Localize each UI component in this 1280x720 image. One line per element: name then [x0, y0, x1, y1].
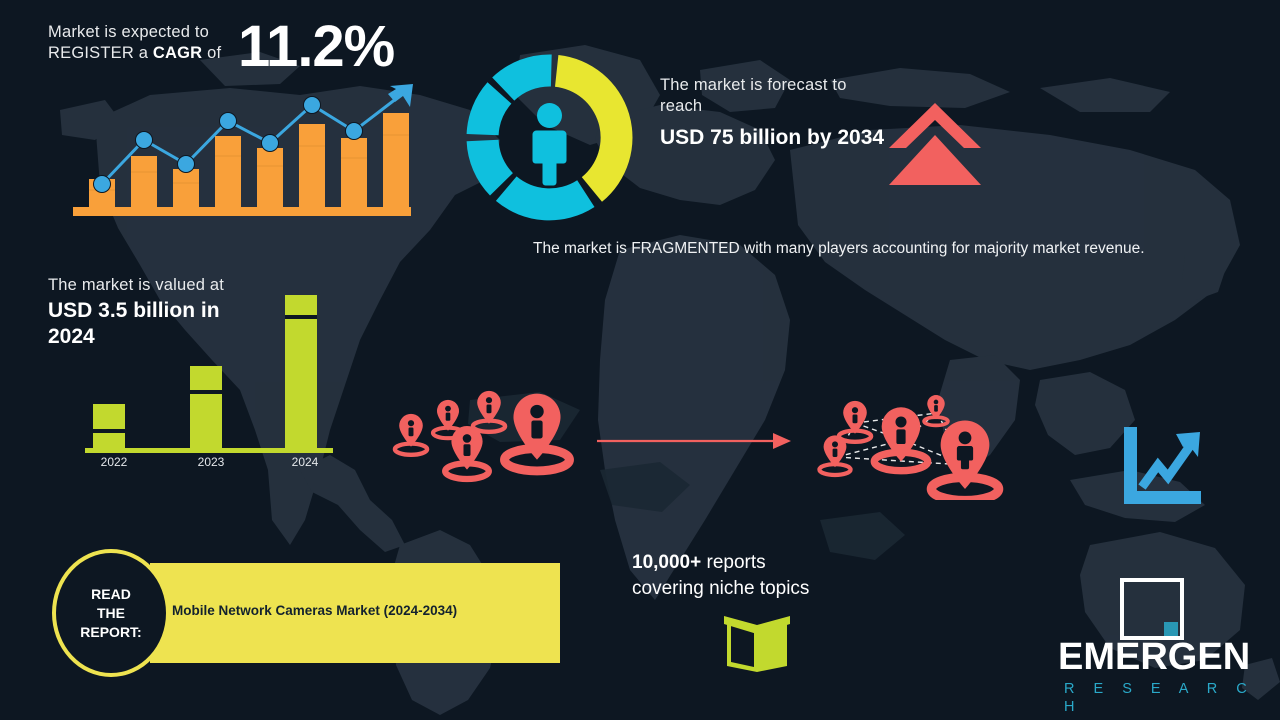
logo-mark-icon	[1120, 578, 1184, 640]
location-pin-cluster-icon	[385, 385, 585, 495]
forecast-value: USD 75 billion by 2034	[660, 125, 885, 151]
infographic-canvas: Market is expected to REGISTER a CAGR of…	[0, 0, 1280, 720]
bar-label-2022: 2022	[84, 455, 144, 469]
right-arrow-icon	[595, 428, 795, 454]
logo-subtitle: R E S E A R C H	[1064, 680, 1280, 716]
cagr-value: 11.2%	[238, 18, 394, 76]
bar-label-2024: 2024	[275, 455, 335, 469]
growth-chart-icon	[1120, 425, 1205, 510]
forecast-label-text: The market is forecast to reach	[660, 75, 875, 117]
read-the-report-label: READ THE REPORT:	[80, 585, 141, 642]
cagr-line2-pre: REGISTER a	[48, 44, 153, 62]
donut-slice-1	[555, 55, 632, 202]
cagr-line2-post: of	[202, 44, 221, 62]
cagr-keyword: CAGR	[153, 44, 202, 62]
market-share-donut	[462, 50, 637, 225]
bar-2023	[190, 366, 222, 450]
report-banner-text: Mobile Network Cameras Market (2024-2034…	[172, 603, 542, 618]
reports-line2: covering niche topics	[632, 578, 809, 599]
reports-line1-rest: reports	[701, 552, 765, 573]
valuation-bars-chart	[85, 295, 335, 455]
reports-count: 10,000+	[632, 552, 701, 573]
logo-wordmark: EMERGEN	[1058, 638, 1250, 676]
valuation-bars	[93, 295, 317, 450]
cta-line3: REPORT:	[80, 624, 141, 640]
person-icon	[533, 103, 567, 186]
open-book-icon	[722, 612, 792, 674]
donut-slice-5	[492, 54, 552, 100]
connected-location-pin-network-icon	[805, 385, 1015, 500]
reports-text: 10,000+ reports covering niche topics	[632, 550, 932, 602]
cta-line2: THE	[97, 605, 125, 621]
fragmented-text: The market is FRAGMENTED with many playe…	[533, 238, 1223, 260]
read-the-report-button[interactable]: READ THE REPORT:	[52, 549, 170, 677]
chart-baseline	[73, 207, 411, 216]
bar-2022	[93, 404, 125, 450]
report-banner[interactable]: Mobile Network Cameras Market (2024-2034…	[150, 563, 560, 663]
donut-slice-3	[467, 140, 513, 196]
up-arrow-chevron-icon	[880, 95, 990, 190]
cta-line1: READ	[91, 586, 131, 602]
bar-label-2023: 2023	[181, 455, 241, 469]
valuation-baseline	[85, 448, 333, 453]
growth-trend-chart	[65, 80, 415, 225]
valuation-label: The market is valued at	[48, 275, 308, 296]
